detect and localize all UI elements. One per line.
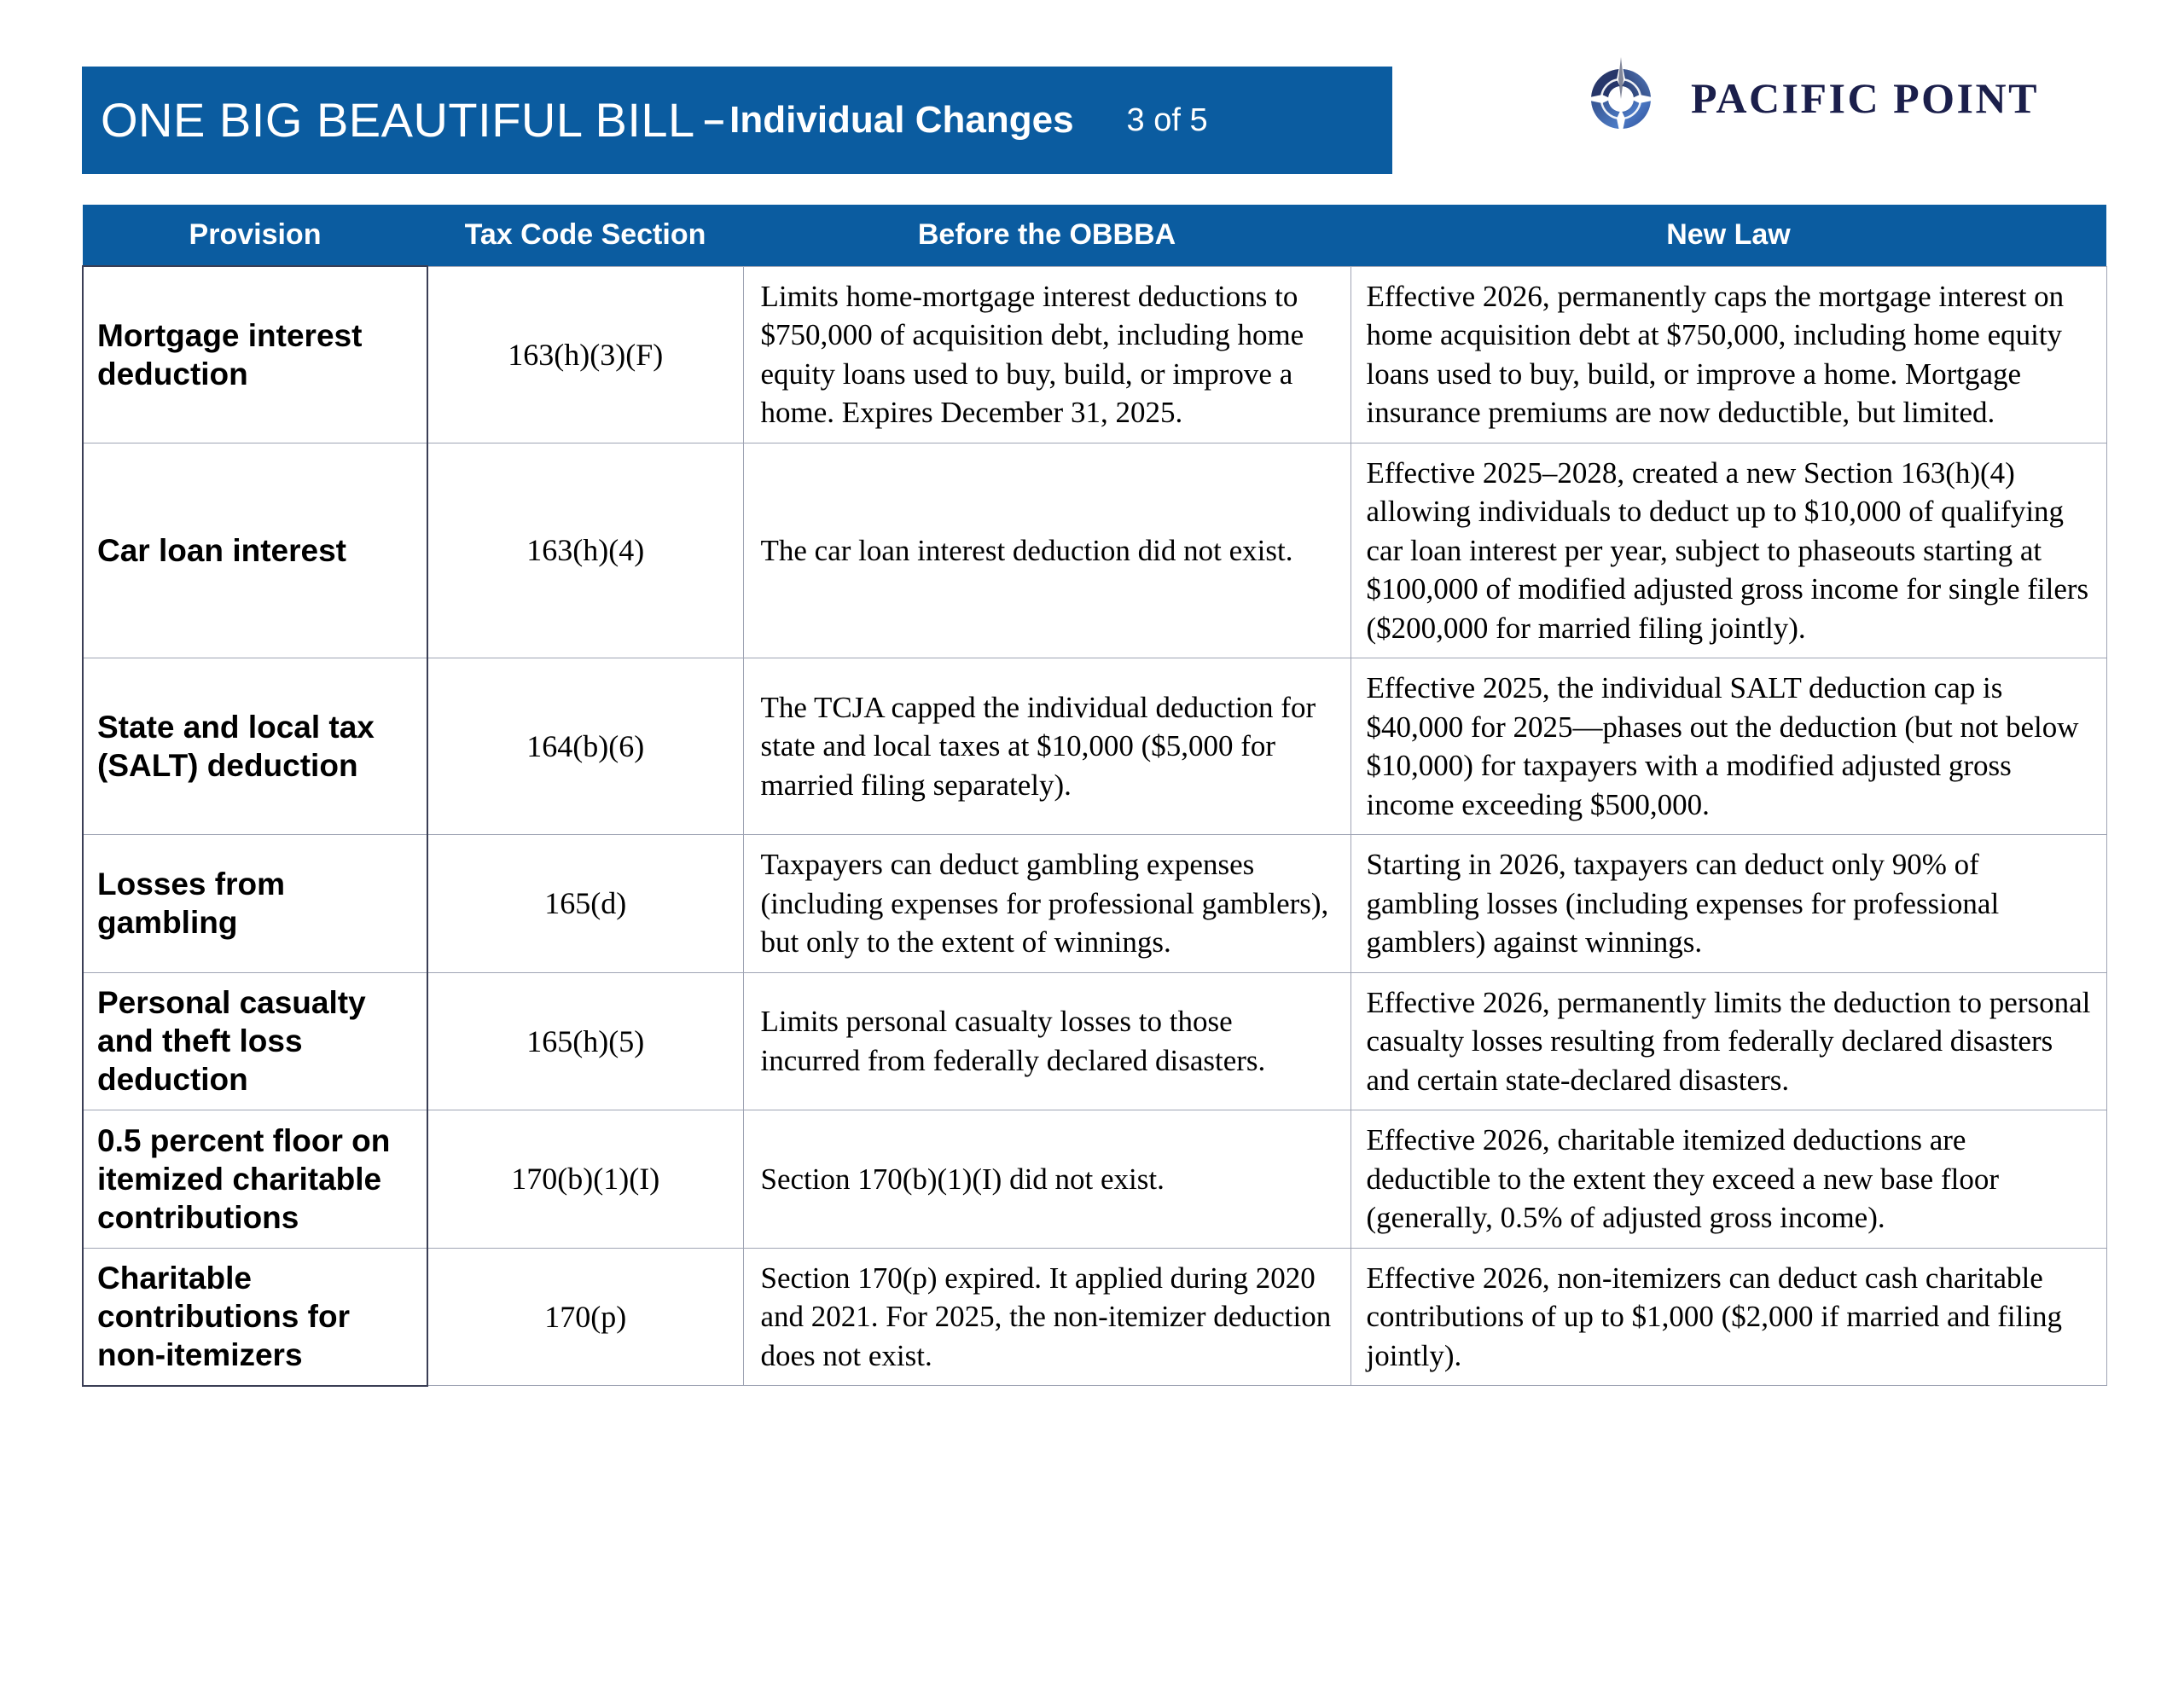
cell-provision: Charitable contributions for non-itemize… (83, 1248, 427, 1386)
document-header: ONE BIG BEAUTIFUL BILL – Individual Chan… (0, 0, 2184, 196)
cell-tax-code: 163(h)(3)(F) (427, 266, 743, 443)
cell-before: Limits personal casualty losses to those… (743, 972, 1350, 1110)
cell-before: The car loan interest deduction did not … (743, 443, 1350, 658)
column-header-tax-code: Tax Code Section (427, 205, 743, 266)
cell-new-law: Effective 2026, permanently limits the d… (1350, 972, 2106, 1110)
column-header-provision: Provision (83, 205, 427, 266)
table-header: Provision Tax Code Section Before the OB… (83, 205, 2106, 266)
cell-new-law: Effective 2025, the individual SALT dedu… (1350, 658, 2106, 835)
cell-new-law: Starting in 2026, taxpayers can deduct o… (1350, 835, 2106, 973)
table-row: Losses from gambling 165(d) Taxpayers ca… (83, 835, 2106, 973)
cell-tax-code: 165(h)(5) (427, 972, 743, 1110)
title-separator: – (704, 101, 724, 139)
cell-provision: 0.5 percent floor on itemized charitable… (83, 1110, 427, 1249)
cell-tax-code: 170(b)(1)(I) (427, 1110, 743, 1249)
cell-new-law: Effective 2026, permanently caps the mor… (1350, 266, 2106, 443)
title-banner: ONE BIG BEAUTIFUL BILL – Individual Chan… (82, 67, 1392, 174)
table-row: Charitable contributions for non-itemize… (83, 1248, 2106, 1386)
cell-before: Section 170(p) expired. It applied durin… (743, 1248, 1350, 1386)
table-row: 0.5 percent floor on itemized charitable… (83, 1110, 2106, 1249)
page-subtitle: Individual Changes (729, 101, 1073, 139)
cell-tax-code: 170(p) (427, 1248, 743, 1386)
table-row: Personal casualty and theft loss deducti… (83, 972, 2106, 1110)
table-row: State and local tax (SALT) deduction 164… (83, 658, 2106, 835)
table-body: Mortgage interest deduction 163(h)(3)(F)… (83, 266, 2106, 1386)
cell-provision: State and local tax (SALT) deduction (83, 658, 427, 835)
cell-provision: Mortgage interest deduction (83, 266, 427, 443)
cell-before: Taxpayers can deduct gambling expenses (… (743, 835, 1350, 973)
page-counter: 3 of 5 (1127, 104, 1208, 136)
page-title: ONE BIG BEAUTIFUL BILL (101, 96, 695, 144)
table-row: Mortgage interest deduction 163(h)(3)(F)… (83, 266, 2106, 443)
cell-before: Section 170(b)(1)(I) did not exist. (743, 1110, 1350, 1249)
compass-rose-icon (1580, 54, 1662, 142)
cell-new-law: Effective 2026, non-itemizers can deduct… (1350, 1248, 2106, 1386)
table-header-row: Provision Tax Code Section Before the OB… (83, 205, 2106, 266)
brand-logo: PACIFIC POINT (1580, 51, 2039, 145)
cell-provision: Losses from gambling (83, 835, 427, 973)
column-header-before: Before the OBBBA (743, 205, 1350, 266)
cell-before: The TCJA capped the individual deduction… (743, 658, 1350, 835)
cell-provision: Personal casualty and theft loss deducti… (83, 972, 427, 1110)
cell-provision: Car loan interest (83, 443, 427, 658)
table-row: Car loan interest 163(h)(4) The car loan… (83, 443, 2106, 658)
cell-new-law: Effective 2026, charitable itemized dedu… (1350, 1110, 2106, 1249)
cell-tax-code: 165(d) (427, 835, 743, 973)
column-header-new-law: New Law (1350, 205, 2106, 266)
cell-before: Limits home-mortgage interest deductions… (743, 266, 1350, 443)
brand-name: PACIFIC POINT (1691, 73, 2039, 123)
cell-tax-code: 164(b)(6) (427, 658, 743, 835)
cell-tax-code: 163(h)(4) (427, 443, 743, 658)
provisions-comparison-table: Provision Tax Code Section Before the OB… (82, 205, 2107, 1387)
cell-new-law: Effective 2025–2028, created a new Secti… (1350, 443, 2106, 658)
